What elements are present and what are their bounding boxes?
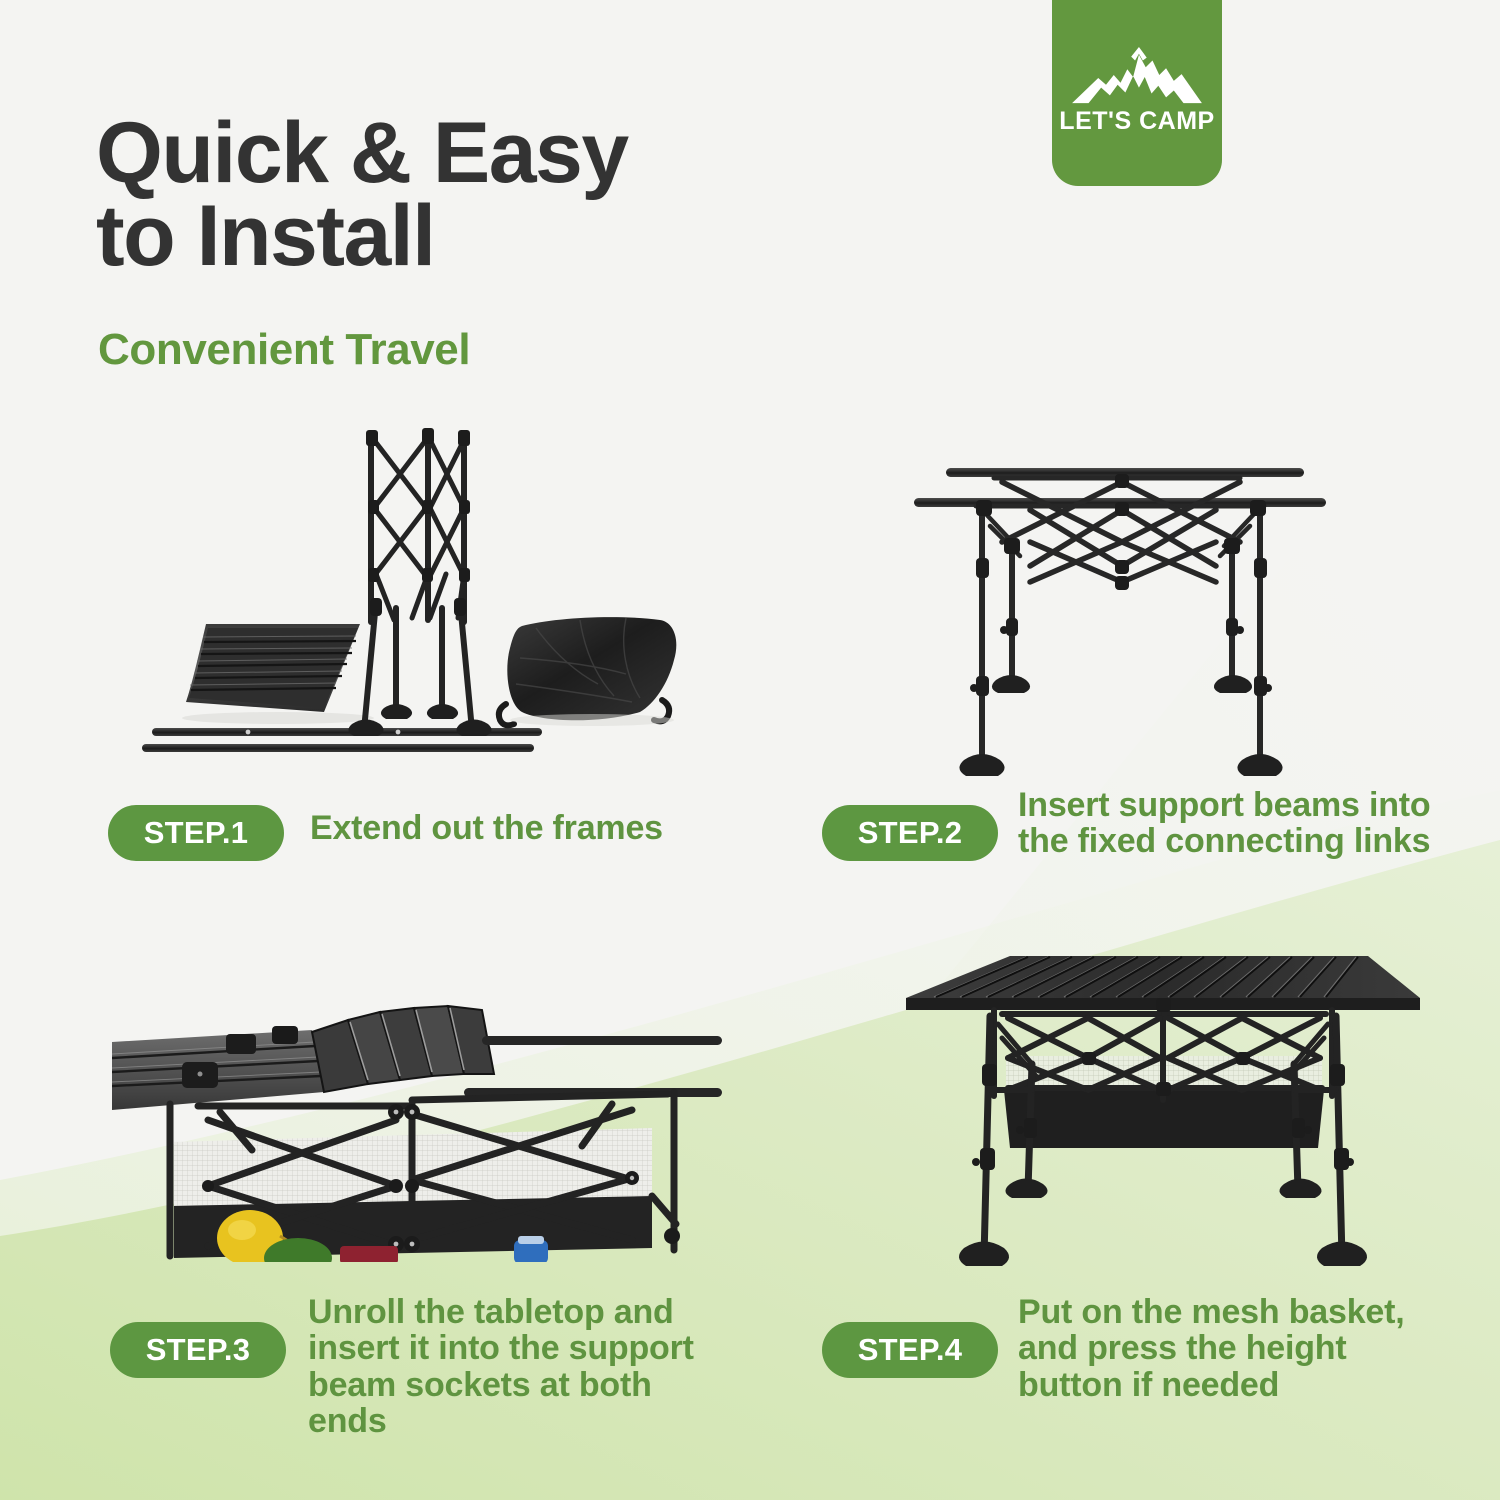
- step-2-badge[interactable]: STEP.2: [822, 805, 998, 861]
- brand-logo-badge: LET'S CAMP: [1052, 0, 1222, 186]
- step-2-caption: Insert support beams into the fixed conn…: [1018, 787, 1438, 860]
- folded-frame: [348, 428, 491, 736]
- step-2-image: [890, 438, 1430, 780]
- page-title-line-1: Quick & Easy: [96, 112, 936, 195]
- step-4-caption: Put on the mesh basket, and press the he…: [1018, 1294, 1448, 1403]
- extended-frame: [914, 468, 1326, 776]
- mountain-icon: [1069, 45, 1205, 107]
- page-subtitle: Convenient Travel: [98, 325, 470, 375]
- step-4-badge[interactable]: STEP.4: [822, 1322, 998, 1378]
- step-1-badge[interactable]: STEP.1: [108, 805, 284, 861]
- step-1-image: [128, 412, 688, 774]
- page-title-line-2: to Install: [96, 195, 936, 278]
- step-4-image: [898, 940, 1428, 1272]
- step-1-caption: Extend out the frames: [310, 810, 740, 846]
- page-title: Quick & Easy to Install: [96, 112, 936, 279]
- support-beams: [464, 1036, 722, 1097]
- brand-name: LET'S CAMP: [1059, 109, 1214, 134]
- rolled-tabletop: [182, 624, 374, 724]
- step-3-caption: Unroll the tabletop and insert it into t…: [308, 1294, 738, 1440]
- step-3-badge[interactable]: STEP.3: [110, 1322, 286, 1378]
- carry-bag: [499, 617, 676, 726]
- infographic-canvas: LET'S CAMP Quick & Easy to Install Conve…: [0, 0, 1500, 1500]
- step-3-image: [112, 1000, 722, 1262]
